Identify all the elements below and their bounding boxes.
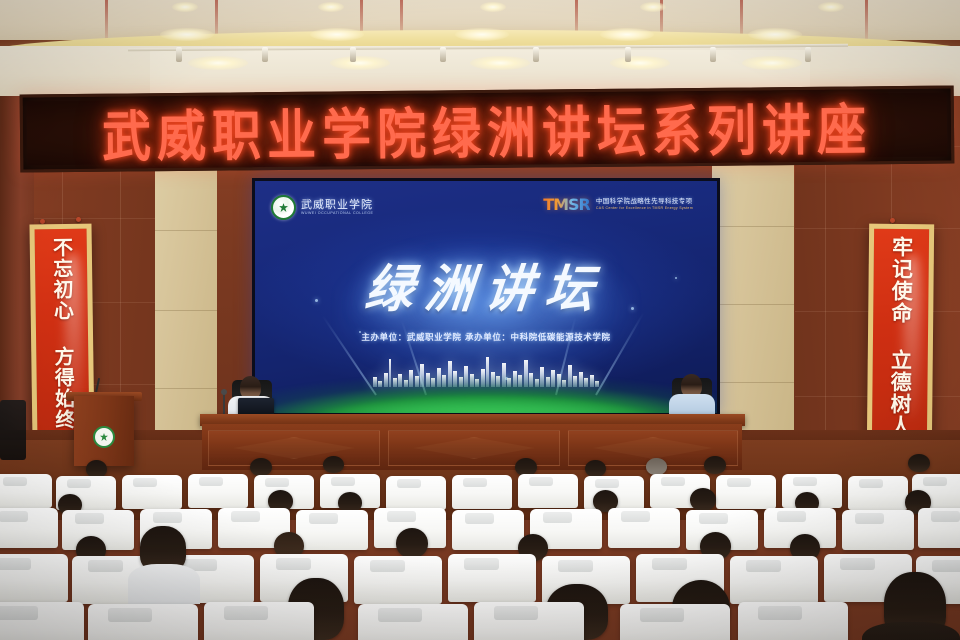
school-emblem-icon xyxy=(271,195,296,220)
ceiling-downlight-icon xyxy=(455,28,509,41)
audience-seat xyxy=(354,556,442,604)
couplet-right: 牢记使命 立德树人 xyxy=(867,224,934,450)
ceiling-downlight-icon xyxy=(470,56,530,70)
ceiling-downlight-icon xyxy=(742,56,802,70)
wall-panel-left xyxy=(155,152,217,452)
ceiling-downlight-icon xyxy=(480,2,506,12)
ceiling-downlight-icon xyxy=(748,28,802,41)
screen-logo-college: 武威职业学院 WUWEI OCCUPATIONAL COLLEGE xyxy=(271,195,373,220)
audience-shoulders xyxy=(862,622,960,640)
audience-seat xyxy=(620,604,730,640)
screen-title: 绿洲讲坛 xyxy=(255,247,717,321)
school-emblem-icon xyxy=(93,426,115,448)
ceiling-downlight-icon xyxy=(318,2,344,12)
ceiling-downlight-icon xyxy=(330,56,390,70)
audience-head xyxy=(250,458,272,476)
audience-head xyxy=(690,488,716,511)
audience-head xyxy=(585,460,606,477)
couplet-right-text: 牢记使命 立德树人 xyxy=(888,236,913,437)
audience-seat xyxy=(452,510,524,550)
audience-seat xyxy=(122,475,182,509)
audience-seat xyxy=(474,602,584,640)
audience-seat xyxy=(738,602,848,640)
audience-head xyxy=(646,458,667,475)
college-logo-cn: 武威职业学院 xyxy=(301,199,373,210)
college-logo-en: WUWEI OCCUPATIONAL COLLEGE xyxy=(301,212,373,216)
audience-seat xyxy=(848,476,908,510)
ceiling-downlight-icon xyxy=(610,56,670,70)
audience-head xyxy=(704,456,726,474)
ceiling-downlight-icon xyxy=(160,28,214,41)
ceiling-downlight-icon xyxy=(188,56,248,70)
audience-seat xyxy=(386,476,446,510)
audience-seat xyxy=(842,510,914,550)
tmsr-logo-cn: 中国科学院战略性先导科技专项 xyxy=(596,198,693,205)
audience-seat xyxy=(358,604,468,640)
audience-head xyxy=(396,528,428,558)
auditorium-scene: 武威职业学院绿洲讲坛系列讲座 武威职业学院 WUWEI OCCUPATIONAL… xyxy=(0,0,960,640)
ceiling-downlight-icon xyxy=(600,28,654,41)
audience-seat xyxy=(296,510,368,550)
audience-seating xyxy=(0,452,960,640)
audience-seat xyxy=(452,475,512,509)
audience-head xyxy=(323,456,344,473)
audience-seat xyxy=(188,474,248,508)
audience-seat xyxy=(730,556,818,604)
track-light-icon xyxy=(262,47,268,62)
audience-seat xyxy=(716,475,776,509)
table-microphone-icon xyxy=(223,392,225,414)
audience-seat xyxy=(88,604,198,640)
track-light-icon xyxy=(710,47,716,62)
wall-panel-right xyxy=(712,152,794,448)
track-light-icon xyxy=(350,47,356,62)
camera-equipment xyxy=(0,400,26,460)
ceiling-downlight-icon xyxy=(172,2,198,12)
track-light-icon xyxy=(805,47,811,62)
track-light-icon xyxy=(625,47,631,62)
audience-seat xyxy=(0,554,68,602)
audience-seat xyxy=(448,554,536,602)
tmsr-logo-en: CAS Center for Excellence in TMSR Energy… xyxy=(596,207,693,211)
audience-seat xyxy=(608,508,680,548)
audience-seat xyxy=(918,508,960,548)
projection-screen: 武威职业学院 WUWEI OCCUPATIONAL COLLEGE TMSR 中… xyxy=(252,178,720,416)
screen-logo-tmsr: TMSR 中国科学院战略性先导科技专项 CAS Center for Excel… xyxy=(543,195,693,214)
track-light-icon xyxy=(440,47,446,62)
audience-seat xyxy=(0,602,84,640)
track-light-icon xyxy=(533,47,539,62)
audience-seat xyxy=(518,474,578,508)
ceiling-downlight-icon xyxy=(310,28,364,41)
led-banner: 武威职业学院绿洲讲坛系列讲座 xyxy=(20,86,955,173)
tmsr-logo-icon: TMSR xyxy=(543,195,590,214)
audience-shoulders xyxy=(128,564,200,604)
audience-seat xyxy=(0,508,58,548)
led-banner-text: 武威职业学院绿洲讲坛系列讲座 xyxy=(102,86,873,173)
audience-seat xyxy=(0,474,52,508)
audience-seat xyxy=(204,602,314,640)
track-light-icon xyxy=(176,47,182,62)
audience-head xyxy=(908,454,930,472)
ceiling-downlight-icon xyxy=(640,2,666,12)
ceiling-downlight-icon xyxy=(818,2,844,12)
